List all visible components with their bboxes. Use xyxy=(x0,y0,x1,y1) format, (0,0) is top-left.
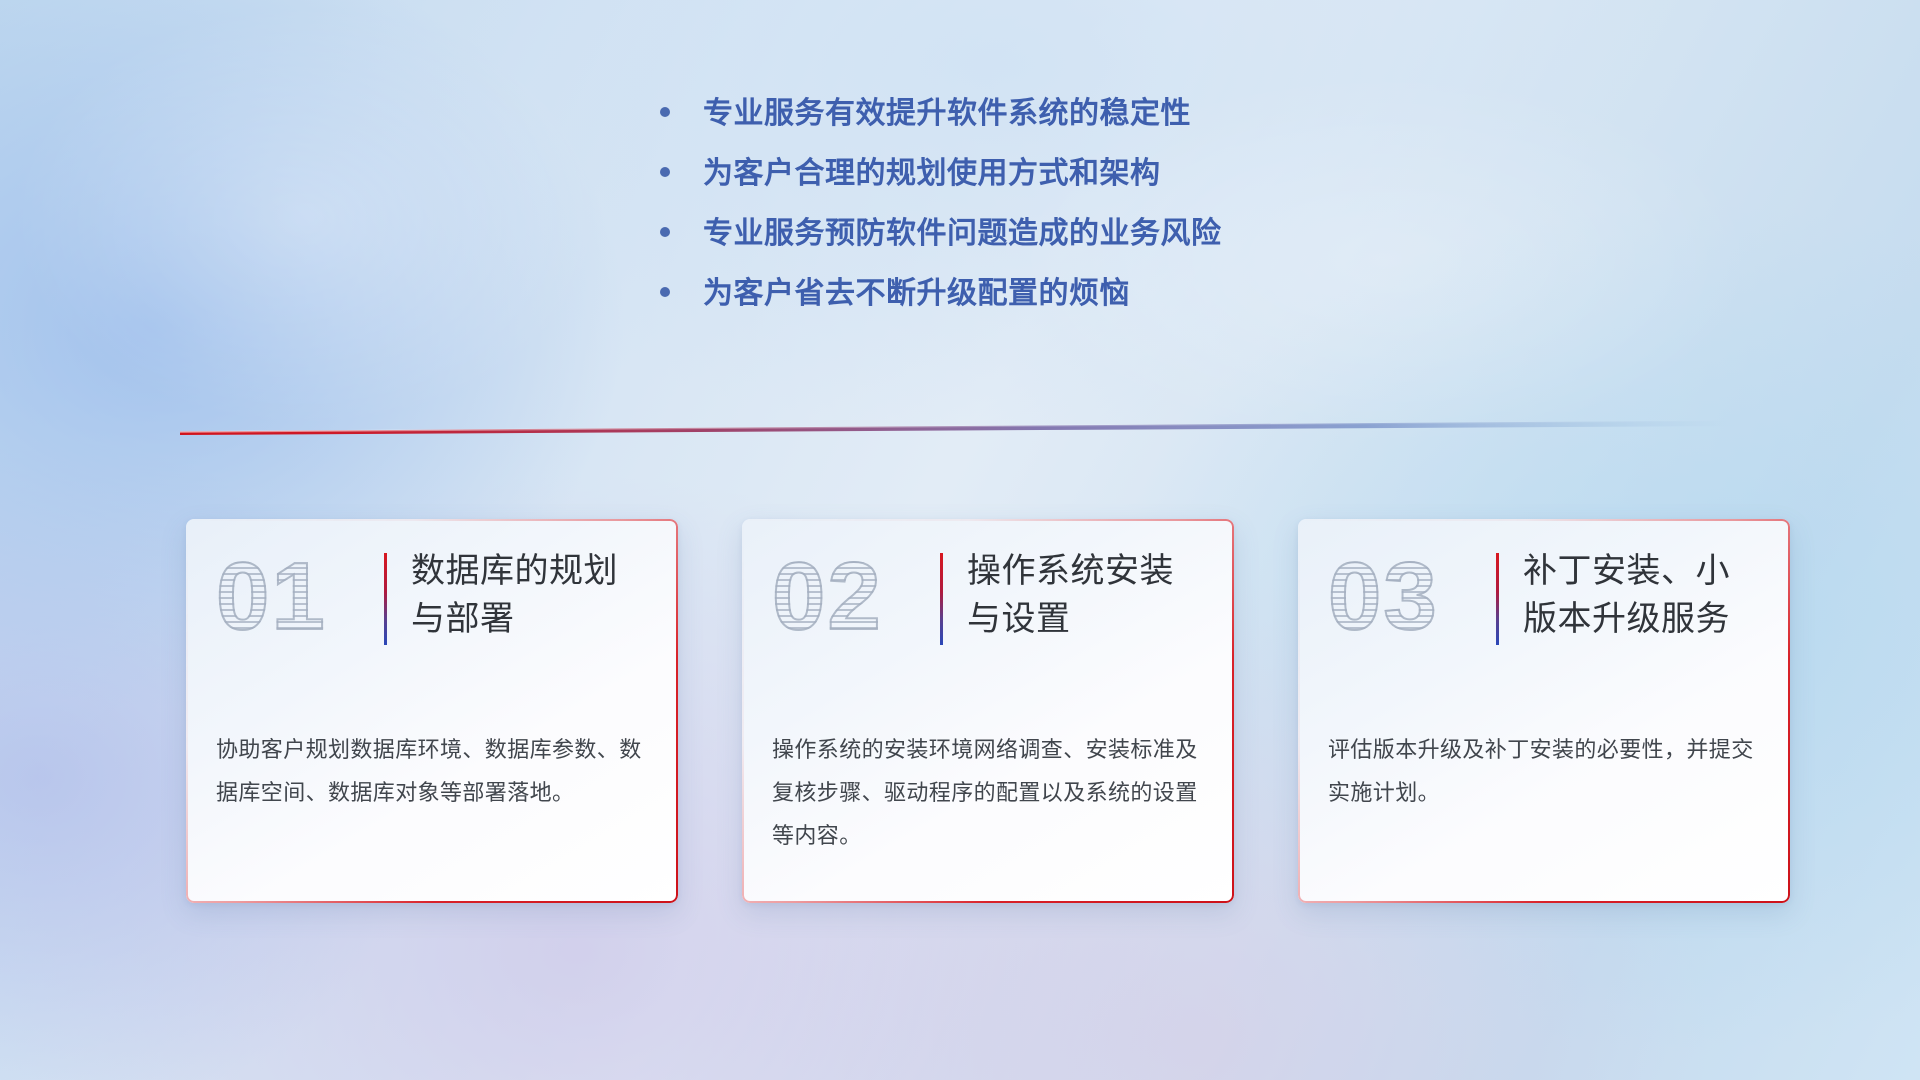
card-header: 01 数据库的规划与部署 xyxy=(216,543,648,681)
service-card[interactable]: 02 操作系统安装与设置 操作系统的安装环境网络调查、安装标准及复核步骤、驱动程… xyxy=(742,519,1234,903)
list-item: 专业服务有效提升软件系统的稳定性 xyxy=(660,96,1222,132)
card-title: 操作系统安装与设置 xyxy=(967,543,1204,644)
bullet-text: 为客户省去不断升级配置的烦恼 xyxy=(703,276,1130,312)
benefits-bullet-list: 专业服务有效提升软件系统的稳定性 为客户合理的规划使用方式和架构 专业服务预防软… xyxy=(660,96,1222,336)
bullet-dot-icon xyxy=(660,107,670,117)
list-item: 为客户合理的规划使用方式和架构 xyxy=(660,156,1222,192)
bullet-text: 为客户合理的规划使用方式和架构 xyxy=(703,156,1161,192)
card-number: 02 xyxy=(772,549,940,645)
card-description: 协助客户规划数据库环境、数据库参数、数据库空间、数据库对象等部署落地。 xyxy=(216,729,648,815)
card-content: 01 数据库的规划与部署 协助客户规划数据库环境、数据库参数、数据库空间、数据库… xyxy=(186,519,678,903)
bullet-dot-icon xyxy=(660,227,670,237)
card-description: 操作系统的安装环境网络调查、安装标准及复核步骤、驱动程序的配置以及系统的设置等内… xyxy=(772,729,1204,858)
card-title-rule xyxy=(940,553,943,645)
card-title-rule xyxy=(384,553,387,645)
card-number: 03 xyxy=(1328,549,1496,645)
bullet-text: 专业服务预防软件问题造成的业务风险 xyxy=(703,216,1222,252)
card-title-rule xyxy=(1496,553,1499,645)
bullet-dot-icon xyxy=(660,287,670,297)
bullet-dot-icon xyxy=(660,167,670,177)
card-content: 02 操作系统安装与设置 操作系统的安装环境网络调查、安装标准及复核步骤、驱动程… xyxy=(742,519,1234,903)
service-card[interactable]: 03 补丁安装、小版本升级服务 评估版本升级及补丁安装的必要性，并提交实施计划。 xyxy=(1298,519,1790,903)
service-card[interactable]: 01 数据库的规划与部署 协助客户规划数据库环境、数据库参数、数据库空间、数据库… xyxy=(186,519,678,903)
card-header: 02 操作系统安装与设置 xyxy=(772,543,1204,681)
divider-graphic xyxy=(180,418,1740,440)
service-card-list: 01 数据库的规划与部署 协助客户规划数据库环境、数据库参数、数据库空间、数据库… xyxy=(186,519,1790,903)
card-description: 评估版本升级及补丁安装的必要性，并提交实施计划。 xyxy=(1328,729,1760,815)
slide-canvas: 专业服务有效提升软件系统的稳定性 为客户合理的规划使用方式和架构 专业服务预防软… xyxy=(0,0,1920,1080)
section-divider xyxy=(180,418,1740,440)
card-header: 03 补丁安装、小版本升级服务 xyxy=(1328,543,1760,681)
bullet-text: 专业服务有效提升软件系统的稳定性 xyxy=(703,96,1191,132)
list-item: 专业服务预防软件问题造成的业务风险 xyxy=(660,216,1222,252)
card-title: 数据库的规划与部署 xyxy=(411,543,648,644)
card-number: 01 xyxy=(216,549,384,645)
card-content: 03 补丁安装、小版本升级服务 评估版本升级及补丁安装的必要性，并提交实施计划。 xyxy=(1298,519,1790,903)
card-title: 补丁安装、小版本升级服务 xyxy=(1523,543,1760,644)
list-item: 为客户省去不断升级配置的烦恼 xyxy=(660,276,1222,312)
